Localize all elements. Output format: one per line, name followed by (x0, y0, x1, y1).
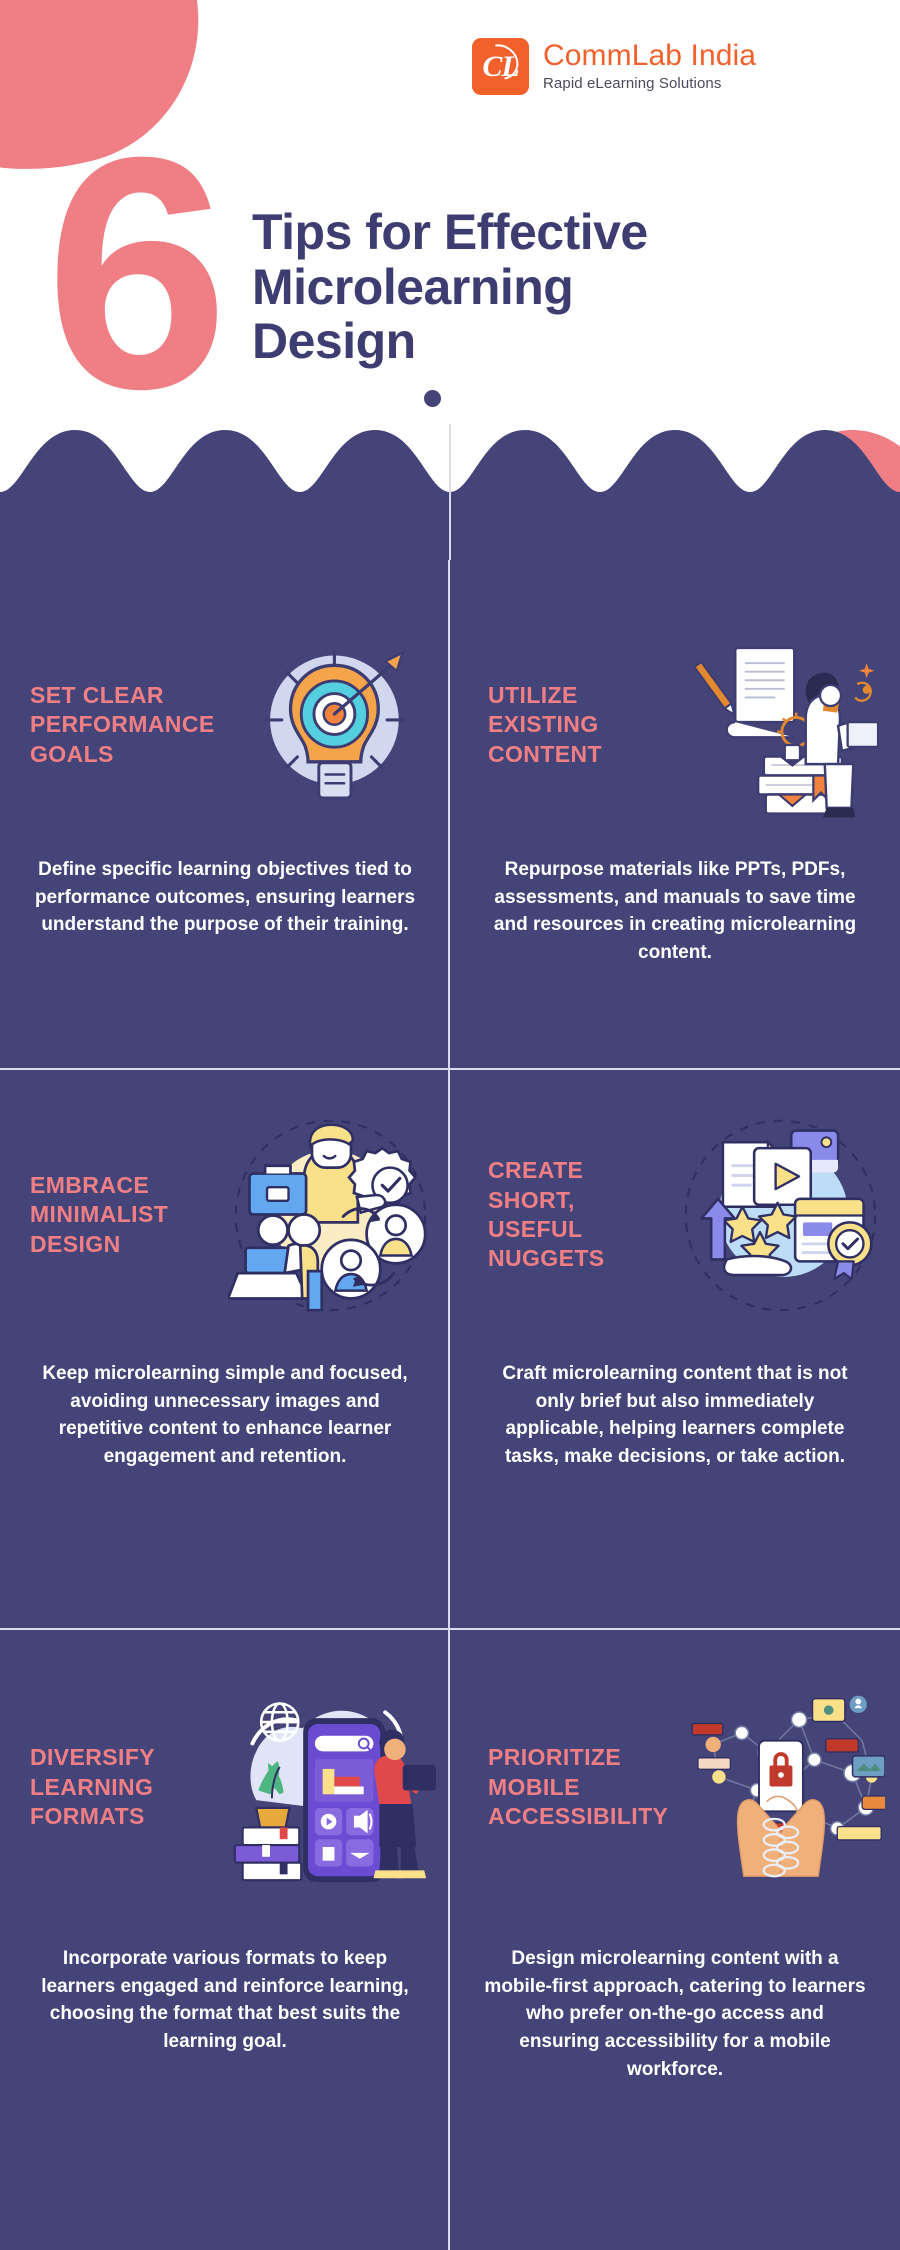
tip-card-embrace-minimalist-design: EMBRACE MINIMALIST DESIGN (0, 1070, 450, 1630)
people-gear-network-icon (220, 1100, 440, 1330)
card-heading: SET CLEAR PERFORMANCE GOALS (0, 681, 215, 769)
tip-card-prioritize-mobile-accessibility: PRIORITIZE MOBILE ACCESSIBILITY (450, 1630, 900, 2250)
commlab-logo-mark-icon: CL (472, 38, 529, 95)
wave-divider (0, 400, 900, 560)
card-body: Craft microlearning content that is not … (450, 1360, 900, 1471)
card-body: Define specific learning objectives tied… (0, 856, 450, 939)
hands-phone-lock-network-icon (670, 1670, 890, 1900)
title-line-2: Microlearning (252, 259, 573, 315)
title-line-1: Tips for Effective (252, 204, 648, 260)
tip-card-utilize-existing-content: UTILIZE EXISTING CONTENT (450, 520, 900, 1070)
card-heading: DIVERSIFY LEARNING FORMATS (0, 1743, 215, 1831)
card-heading: EMBRACE MINIMALIST DESIGN (0, 1171, 215, 1259)
card-header-row: SET CLEAR PERFORMANCE GOALS (0, 620, 450, 830)
card-body: Keep microlearning simple and focused, a… (0, 1360, 450, 1471)
card-header-row: CREATE SHORT, USEFUL NUGGETS (450, 1100, 900, 1330)
card-heading: CREATE SHORT, USEFUL NUGGETS (450, 1156, 665, 1274)
card-body: Repurpose materials like PPTs, PDFs, ass… (450, 856, 900, 967)
card-header-row: PRIORITIZE MOBILE ACCESSIBILITY (450, 1670, 900, 1905)
infographic-header: CL CommLab India Rapid eLearning Solutio… (0, 0, 900, 560)
media-stars-badge-icon (670, 1100, 890, 1330)
person-on-books-scroll-icon (670, 620, 890, 850)
tip-count-number: 6 (10, 108, 260, 438)
brand-name: CommLab India (543, 40, 756, 72)
card-heading: UTILIZE EXISTING CONTENT (450, 681, 665, 769)
tip-card-set-clear-performance-goals: SET CLEAR PERFORMANCE GOALS (0, 520, 450, 1070)
tip-card-create-short-useful-nuggets: CREATE SHORT, USEFUL NUGGETS (450, 1070, 900, 1630)
tips-grid: SET CLEAR PERFORMANCE GOALS (0, 520, 900, 2250)
card-body: Incorporate various formats to keep lear… (0, 1945, 450, 2056)
card-header-row: DIVERSIFY LEARNING FORMATS (0, 1670, 450, 1905)
card-header-row: UTILIZE EXISTING CONTENT (450, 620, 900, 830)
phone-books-learner-icon (220, 1670, 440, 1900)
lightbulb-target-icon (220, 620, 440, 850)
logo-text-block: CommLab India Rapid eLearning Solutions (543, 40, 756, 92)
card-header-row: EMBRACE MINIMALIST DESIGN (0, 1100, 450, 1330)
tip-card-diversify-learning-formats: DIVERSIFY LEARNING FORMATS (0, 1630, 450, 2250)
brand-tagline: Rapid eLearning Solutions (543, 75, 756, 93)
infographic-page: SET CLEAR PERFORMANCE GOALS (0, 0, 900, 2250)
title-line-3: Design (252, 313, 416, 369)
card-heading: PRIORITIZE MOBILE ACCESSIBILITY (450, 1743, 665, 1831)
page-title: Tips for Effective Microlearning Design (252, 205, 862, 369)
commlab-logo[interactable]: CL CommLab India Rapid eLearning Solutio… (472, 38, 756, 95)
card-body: Design microlearning content with a mobi… (450, 1945, 900, 2084)
